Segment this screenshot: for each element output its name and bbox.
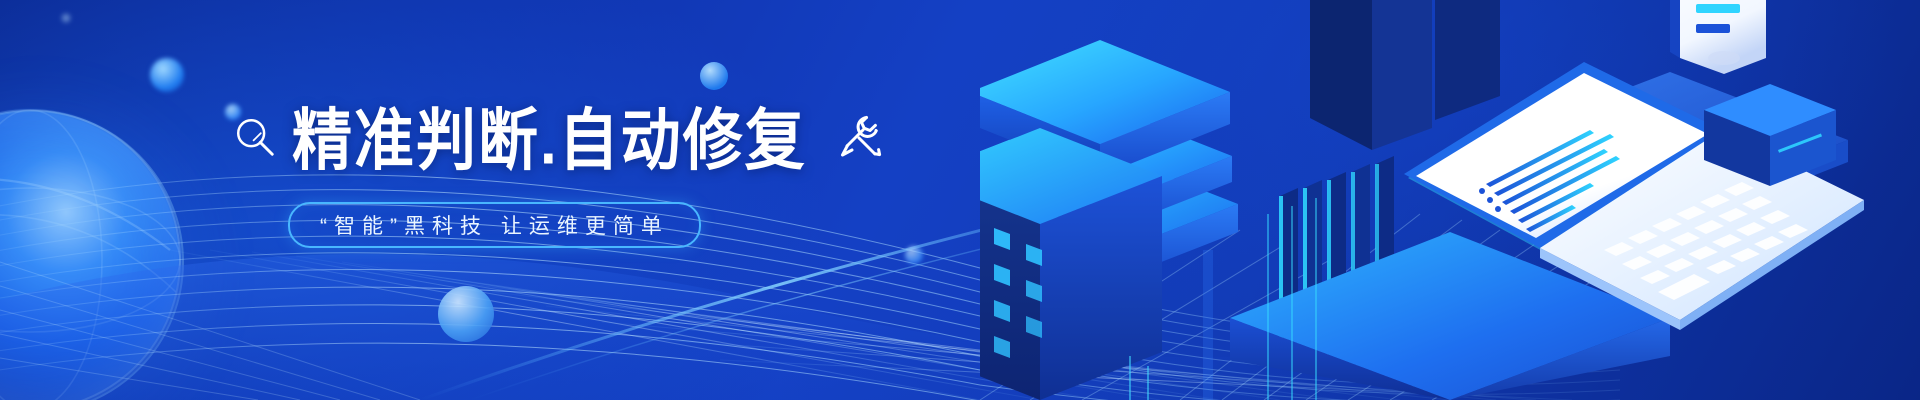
bokeh-dot [60,12,72,24]
bokeh-dot [150,58,184,92]
isometric-illustration [980,0,1920,400]
banner-copy: 精准判断.自动修复 “智能”黑科技 让运维更简单 [232,104,872,248]
bokeh-dot [438,286,494,342]
magnifier-icon [232,115,278,161]
wrench-icon [835,110,887,162]
subtitle-text: “智能”黑科技 让运维更简单 [320,210,669,240]
isometric-building [980,128,1162,400]
subtitle-pill: “智能”黑科技 让运维更简单 [288,202,701,248]
headline-row: 精准判断.自动修复 [232,104,872,178]
background-slabs [1310,0,1500,150]
hero-banner: 精准判断.自动修复 “智能”黑科技 让运维更简单 [0,0,1920,400]
document-card [1670,0,1766,74]
bokeh-dot [700,62,728,90]
bokeh-dot [905,246,923,264]
headline-text: 精准判断.自动修复 [292,107,807,174]
